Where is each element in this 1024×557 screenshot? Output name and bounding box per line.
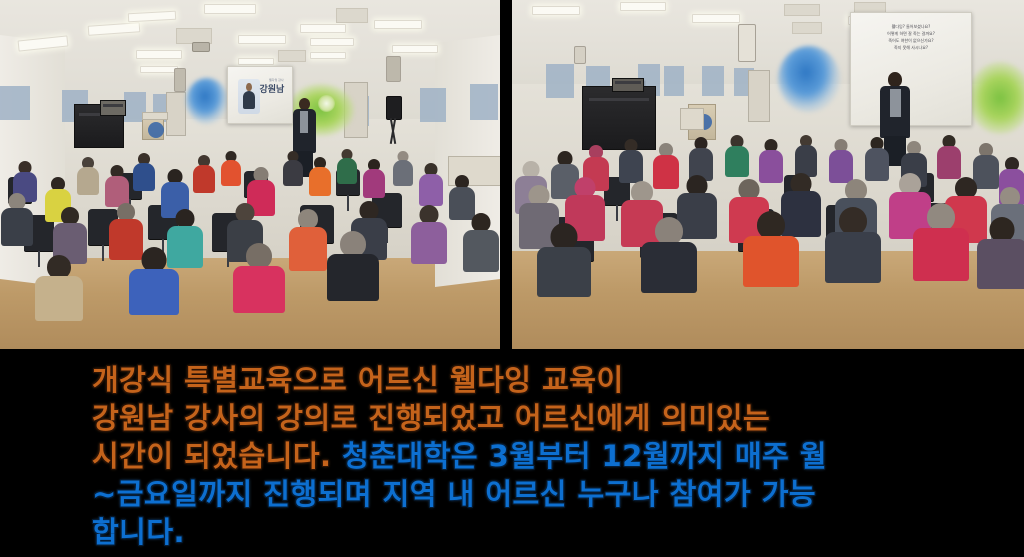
caption-segment: 합니다.	[92, 515, 185, 549]
audience-member	[104, 165, 130, 207]
presenter-head	[888, 72, 902, 87]
side-table	[680, 108, 704, 130]
slide-line: 웰다잉? 들어보셨나요?	[892, 24, 931, 29]
audience-member	[76, 157, 100, 195]
audience-member	[282, 151, 304, 185]
ceiling-light	[238, 35, 286, 44]
slide-line: 어떻게 하면 잘 죽는 걸까요?	[887, 31, 935, 36]
audience-left	[0, 147, 500, 349]
wall-panel	[702, 66, 724, 96]
audience-member	[232, 243, 286, 309]
photo-divider	[500, 0, 512, 349]
audience-member	[864, 137, 890, 179]
audience-member	[220, 151, 242, 185]
ceiling-vent	[336, 8, 368, 23]
ceiling-light	[136, 50, 182, 59]
ceiling-vent	[792, 22, 822, 34]
photo-right: 웰다잉? 들어보셨나요? 어떻게 하면 잘 죽는 걸까요? 죽어도 여한이 없으…	[512, 0, 1024, 349]
wall-panel	[546, 64, 574, 98]
audience-member	[418, 163, 444, 205]
projector	[192, 42, 210, 52]
projection-screen: 웰다잉? 들어보셨나요? 어떻게 하면 잘 죽는 걸까요? 죽어도 여한이 없으…	[850, 12, 972, 126]
audience-member	[336, 149, 358, 183]
audience-member	[688, 137, 714, 179]
caption-line-1: 개강식 특별교육으로 어르신 웰다잉 교육이	[92, 361, 1024, 399]
audience-member	[536, 223, 592, 293]
side-table	[142, 112, 168, 120]
wall-panel	[470, 84, 498, 120]
audience-member	[828, 139, 854, 181]
caption-line-2: 강원남 강사의 강의로 진행되었고 어르신에게 의미있는	[92, 399, 1024, 437]
wall-panel	[664, 66, 684, 96]
wall-panel	[0, 86, 30, 120]
audience-member	[288, 209, 328, 269]
wall-panel	[420, 88, 446, 122]
caption-segment: 개강식 특별교육으로 어르신 웰다잉 교육이	[92, 363, 624, 397]
slide-line: 죽지 못해 사시나요?	[894, 45, 928, 50]
caption-block: 개강식 특별교육으로 어르신 웰다잉 교육이 강원남 강사의 강의로 진행되었고…	[0, 349, 1024, 557]
audience-member	[128, 247, 180, 311]
audience-member	[824, 207, 882, 279]
ceiling-light	[310, 52, 346, 59]
door	[166, 92, 186, 136]
audience-member	[724, 135, 750, 175]
ceiling-light	[692, 14, 740, 23]
ceiling-light	[392, 45, 438, 53]
wall-speaker-left	[174, 68, 186, 92]
ceiling-vent	[278, 50, 306, 62]
audience-member	[34, 255, 84, 317]
audience-member	[132, 153, 156, 189]
ceiling-light	[374, 20, 422, 29]
slide-portrait-body	[243, 91, 255, 109]
slide-portrait	[238, 79, 260, 114]
wall-speaker-right	[386, 56, 401, 82]
audience-member	[794, 135, 818, 175]
audience-member	[326, 231, 380, 297]
ceiling-vent	[784, 4, 820, 16]
presenter-shirt	[300, 111, 308, 133]
poster-root: 웰다잉 강사 강원남	[0, 0, 1024, 557]
audience-right	[512, 133, 1024, 349]
door	[748, 70, 770, 122]
audience-member	[308, 157, 332, 195]
audience-member	[0, 193, 34, 245]
audience-member	[392, 151, 414, 185]
slide-line: 죽어도 여한이 없으신가요?	[888, 38, 933, 43]
photo-left: 웰다잉 강사 강원남	[0, 0, 500, 349]
wall-speaker	[738, 24, 756, 62]
caption-text: 개강식 특별교육으로 어르신 웰다잉 교육이 강원남 강사의 강의로 진행되었고…	[0, 349, 1024, 551]
slide-lecturer-name: 강원남	[259, 82, 284, 95]
caption-segment: 강원남 강사의 강의로 진행되었고 어르신에게 의미있는	[92, 401, 770, 435]
audience-member	[742, 211, 800, 283]
caption-line-3: 시간이 되었습니다. 청춘대학은 3월부터 12월까지 매주 월	[92, 437, 1024, 475]
ceiling-light	[310, 38, 354, 46]
audience-member	[462, 213, 500, 271]
caption-line-4: ~금요일까지 진행되며 지역 내 어르신 누구나 참여가 가능	[92, 475, 1024, 513]
audience-member	[936, 135, 962, 177]
ceiling-light	[238, 58, 274, 65]
rack-top-box	[100, 100, 126, 116]
audience-member	[362, 159, 386, 197]
podium-emblem	[148, 122, 164, 138]
green-wall-art-dot	[318, 95, 335, 112]
blue-wall-art	[186, 78, 228, 124]
caption-line-5: 합니다.	[92, 513, 1024, 551]
ceiling-light	[532, 6, 580, 15]
ceiling-light	[140, 66, 178, 73]
audience-member	[976, 217, 1024, 287]
slide-question-list: 웰다잉? 들어보셨나요? 어떻게 하면 잘 죽는 걸까요? 죽어도 여한이 없으…	[858, 24, 964, 50]
presenter-shirt	[890, 89, 901, 117]
ceiling-light	[300, 24, 346, 33]
caption-segment: 시간이 되었습니다.	[92, 439, 342, 473]
audience-member	[410, 205, 448, 263]
wall-sensor	[574, 46, 586, 64]
rack-top-box	[612, 78, 644, 92]
slide-portrait-head	[246, 83, 252, 91]
ceiling-light	[204, 4, 256, 14]
caption-segment: ~금요일까지 진행되며 지역 내 어르신 누구나 참여가 가능	[92, 477, 816, 511]
audience-member	[912, 203, 970, 277]
pa-speaker	[386, 96, 402, 120]
caption-segment: 청춘대학은 3월부터 12월까지 매주 월	[342, 439, 827, 473]
audience-member	[640, 217, 698, 289]
photo-strip: 웰다잉 강사 강원남	[0, 0, 1024, 349]
ceiling-light	[620, 2, 666, 11]
audience-member	[192, 155, 216, 191]
projection-screen: 웰다잉 강사 강원남	[227, 66, 293, 124]
blue-wall-art	[778, 46, 840, 112]
audience-member	[618, 139, 644, 181]
green-wall-art	[968, 62, 1024, 134]
